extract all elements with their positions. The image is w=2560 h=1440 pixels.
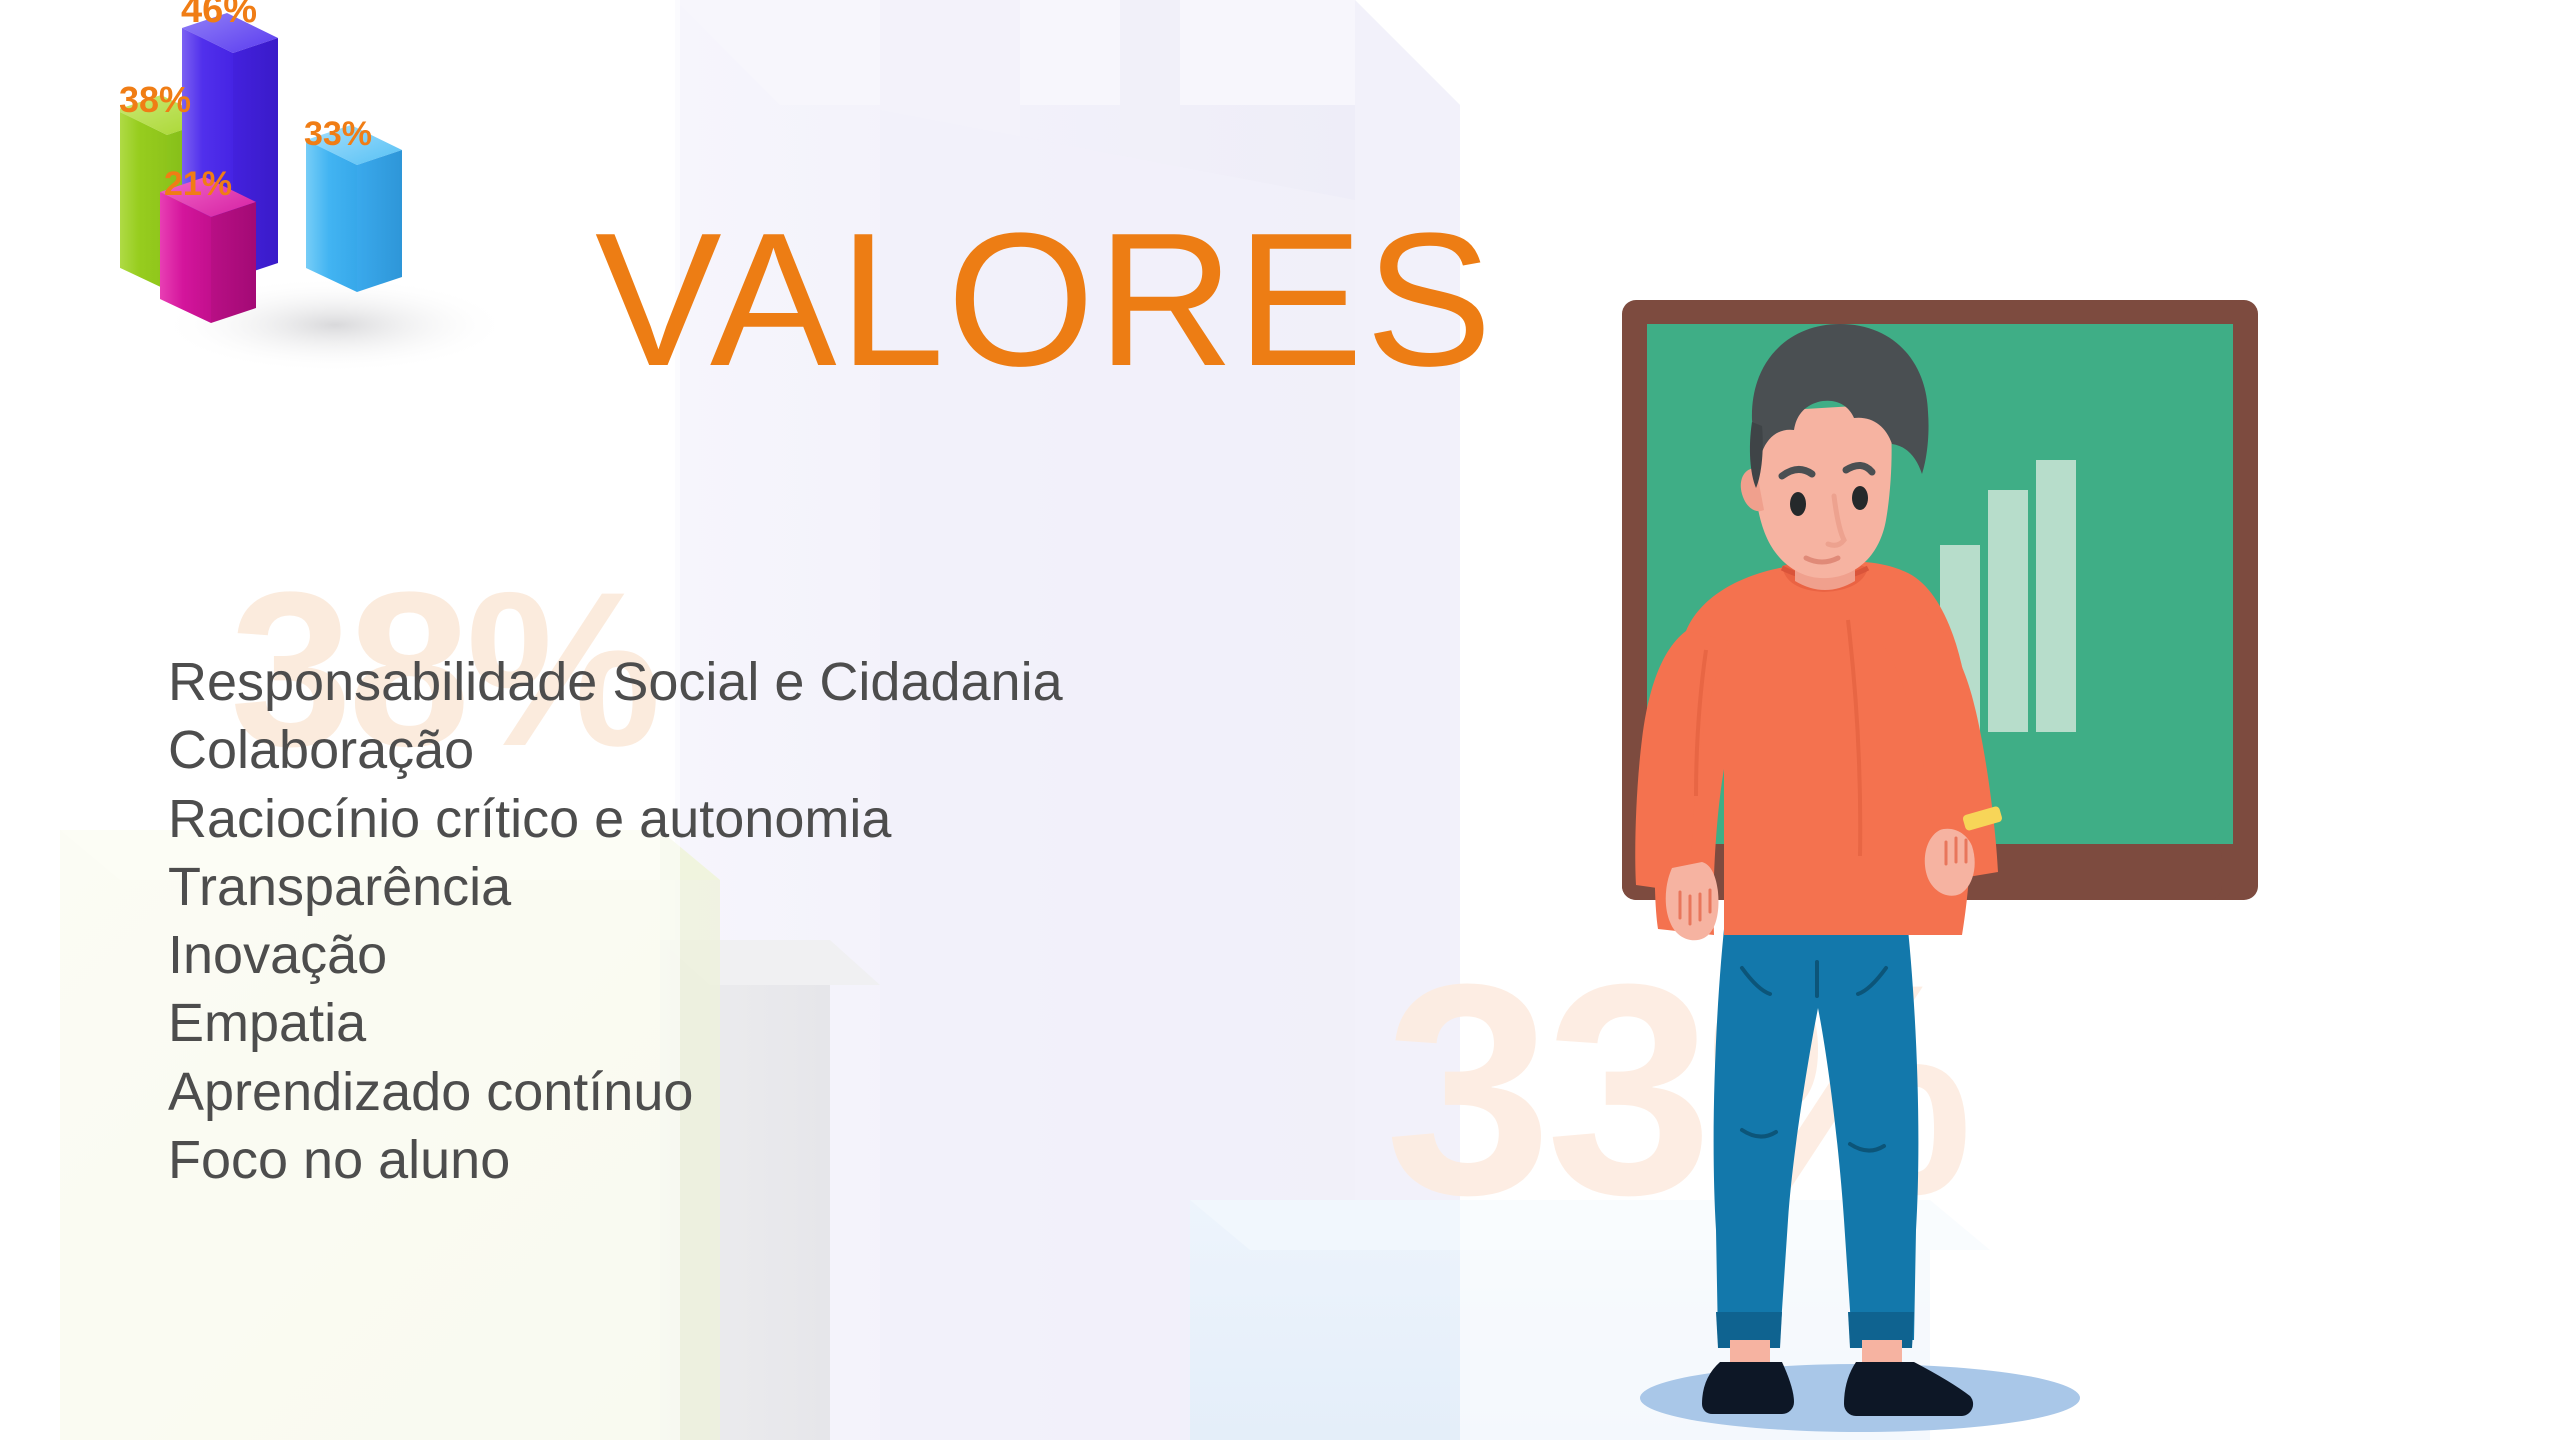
bar-label-38: 38% [120, 79, 191, 120]
values-list: Responsabilidade Social e Cidadania Cola… [168, 648, 1063, 1194]
list-item: Colaboração [168, 716, 1063, 784]
eye-left [1790, 492, 1806, 516]
list-item: Transparência [168, 853, 1063, 921]
list-item: Empatia [168, 989, 1063, 1057]
list-item: Responsabilidade Social e Cidadania [168, 648, 1063, 716]
list-item: Inovação [168, 921, 1063, 989]
bar-label-21: 21% [164, 165, 232, 203]
bar-label-46: 46% [181, 0, 257, 31]
list-item: Foco no aluno [168, 1126, 1063, 1194]
list-item: Aprendizado contínuo [168, 1058, 1063, 1126]
teacher-at-chalkboard-illustration [1530, 300, 2360, 1440]
slide-canvas: 38% 33% [0, 0, 2560, 1440]
list-item: Raciocínio crítico e autonomia [168, 785, 1063, 853]
bar-label-33: 33% [304, 115, 372, 153]
chalkboard-bar-3 [2036, 460, 2076, 732]
bg-lavender-block-top [675, 0, 1460, 105]
shoe-left [1702, 1362, 1794, 1414]
decorative-3d-bar-chart: 46% 38% 33% 21% [120, 0, 540, 560]
chalkboard-bar-2 [1988, 490, 2028, 732]
page-title: VALORES [595, 205, 1494, 395]
eye-right [1852, 486, 1868, 510]
